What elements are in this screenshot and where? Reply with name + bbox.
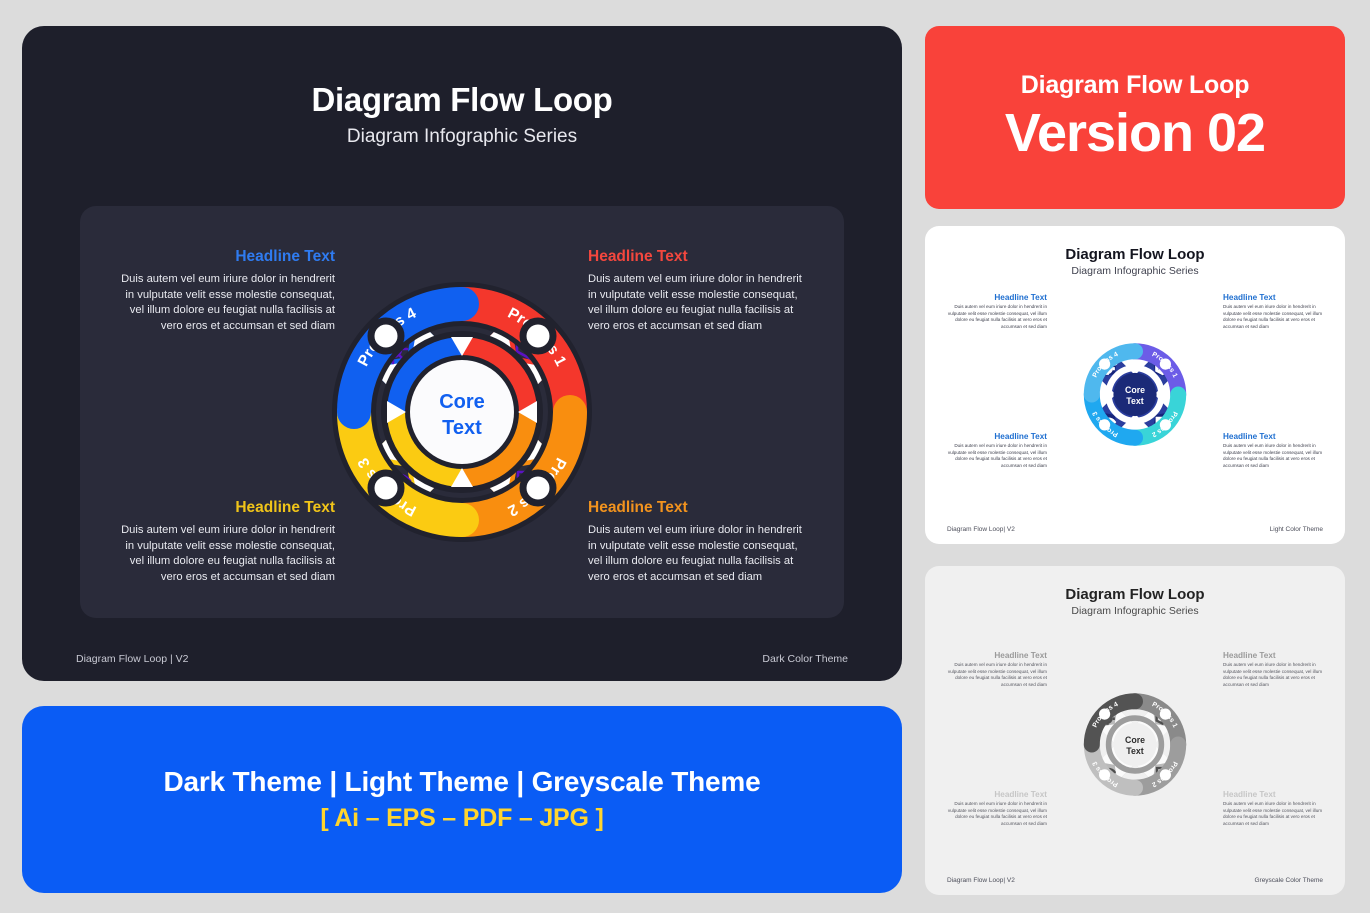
grey-card-subtitle: Diagram Infographic Series xyxy=(925,605,1345,617)
grey-text-bottom-right: Headline Text Duis autem vel eum iriure … xyxy=(1223,790,1327,828)
grey-core-text-line1: Core xyxy=(1125,735,1145,745)
light-card-subtitle: Diagram Infographic Series xyxy=(925,265,1345,277)
footer-left-label: Diagram Flow Loop | V2 xyxy=(76,653,188,665)
light-body-bottom-right: Duis autem vel eum iriure dolor in hendr… xyxy=(1223,443,1327,470)
light-card-title: Diagram Flow Loop xyxy=(925,246,1345,263)
grey-headline-top-right: Headline Text xyxy=(1223,651,1327,660)
banner-themes-label: Dark Theme | Light Theme | Greyscale The… xyxy=(163,766,760,798)
grey-body-top-left: Duis autem vel eum iriure dolor in hendr… xyxy=(943,662,1047,689)
grey-card-title: Diagram Flow Loop xyxy=(925,586,1345,603)
greyscale-theme-card: Diagram Flow Loop Diagram Infographic Se… xyxy=(925,566,1345,895)
light-body-bottom-left: Duis autem vel eum iriure dolor in hendr… xyxy=(943,443,1047,470)
flow-loop-diagram: Process 1 Process 2 Process 3 Process 4 xyxy=(262,212,662,612)
grey-card-footer: Diagram Flow Loop| V2 Greyscale Color Th… xyxy=(947,877,1323,884)
light-body-top-right: Duis autem vel eum iriure dolor in hendr… xyxy=(1223,304,1327,331)
light-text-bottom-right: Headline Text Duis autem vel eum iriure … xyxy=(1223,432,1327,470)
banner-formats-label: [ Ai – EPS – PDF – JPG ] xyxy=(320,804,603,833)
grey-body-bottom-right: Duis autem vel eum iriure dolor in hendr… xyxy=(1223,801,1327,828)
version-card-title: Diagram Flow Loop xyxy=(1021,71,1250,100)
grey-text-top-left: Headline Text Duis autem vel eum iriure … xyxy=(943,651,1047,689)
light-headline-top-left: Headline Text xyxy=(943,293,1047,302)
grey-footer-right: Greyscale Color Theme xyxy=(1254,877,1323,884)
grey-footer-left: Diagram Flow Loop| V2 xyxy=(947,877,1015,884)
poster-canvas: Diagram Flow Loop Diagram Infographic Se… xyxy=(0,0,1370,913)
light-theme-card: Diagram Flow Loop Diagram Infographic Se… xyxy=(925,226,1345,544)
grey-flow-loop-diagram: Process 1 Process 2 Process 3 Process 4 … xyxy=(1055,637,1215,852)
footer-right-label: Dark Color Theme xyxy=(762,653,848,665)
core-text-line2: Text xyxy=(442,417,482,439)
grey-text-top-right: Headline Text Duis autem vel eum iriure … xyxy=(1223,651,1327,689)
light-footer-left: Diagram Flow Loop| V2 xyxy=(947,526,1015,533)
light-headline-bottom-left: Headline Text xyxy=(943,432,1047,441)
grey-text-bottom-left: Headline Text Duis autem vel eum iriure … xyxy=(943,790,1047,828)
light-core-text-line1: Core xyxy=(1125,385,1145,395)
light-text-top-right: Headline Text Duis autem vel eum iriure … xyxy=(1223,293,1327,331)
grey-headline-bottom-left: Headline Text xyxy=(943,790,1047,799)
light-footer-right: Light Color Theme xyxy=(1270,526,1323,533)
light-headline-top-right: Headline Text xyxy=(1223,293,1327,302)
light-text-bottom-left: Headline Text Duis autem vel eum iriure … xyxy=(943,432,1047,470)
light-text-top-left: Headline Text Duis autem vel eum iriure … xyxy=(943,293,1047,331)
page-subtitle: Diagram Infographic Series xyxy=(22,126,902,148)
page-title: Diagram Flow Loop xyxy=(22,81,902,119)
themes-banner: Dark Theme | Light Theme | Greyscale The… xyxy=(22,706,902,893)
dark-card-footer: Diagram Flow Loop | V2 Dark Color Theme xyxy=(76,653,848,665)
grey-body-bottom-left: Duis autem vel eum iriure dolor in hendr… xyxy=(943,801,1047,828)
core-text-line1: Core xyxy=(439,391,485,413)
grey-core-text-line2: Text xyxy=(1126,746,1144,756)
grey-headline-bottom-right: Headline Text xyxy=(1223,790,1327,799)
diagram-panel: Headline Text Duis autem vel eum iriure … xyxy=(80,206,844,618)
version-card-version: Version 02 xyxy=(1005,102,1265,164)
light-core-text-line2: Text xyxy=(1126,396,1144,406)
grey-headline-top-left: Headline Text xyxy=(943,651,1047,660)
light-card-footer: Diagram Flow Loop| V2 Light Color Theme xyxy=(947,526,1323,533)
version-card: Diagram Flow Loop Version 02 xyxy=(925,26,1345,209)
light-headline-bottom-right: Headline Text xyxy=(1223,432,1327,441)
light-flow-loop-diagram: Process 1 Process 2 Process 3 Process 4 … xyxy=(1055,287,1215,502)
grey-body-top-right: Duis autem vel eum iriure dolor in hendr… xyxy=(1223,662,1327,689)
dark-theme-card: Diagram Flow Loop Diagram Infographic Se… xyxy=(22,26,902,681)
light-body-top-left: Duis autem vel eum iriure dolor in hendr… xyxy=(943,304,1047,331)
